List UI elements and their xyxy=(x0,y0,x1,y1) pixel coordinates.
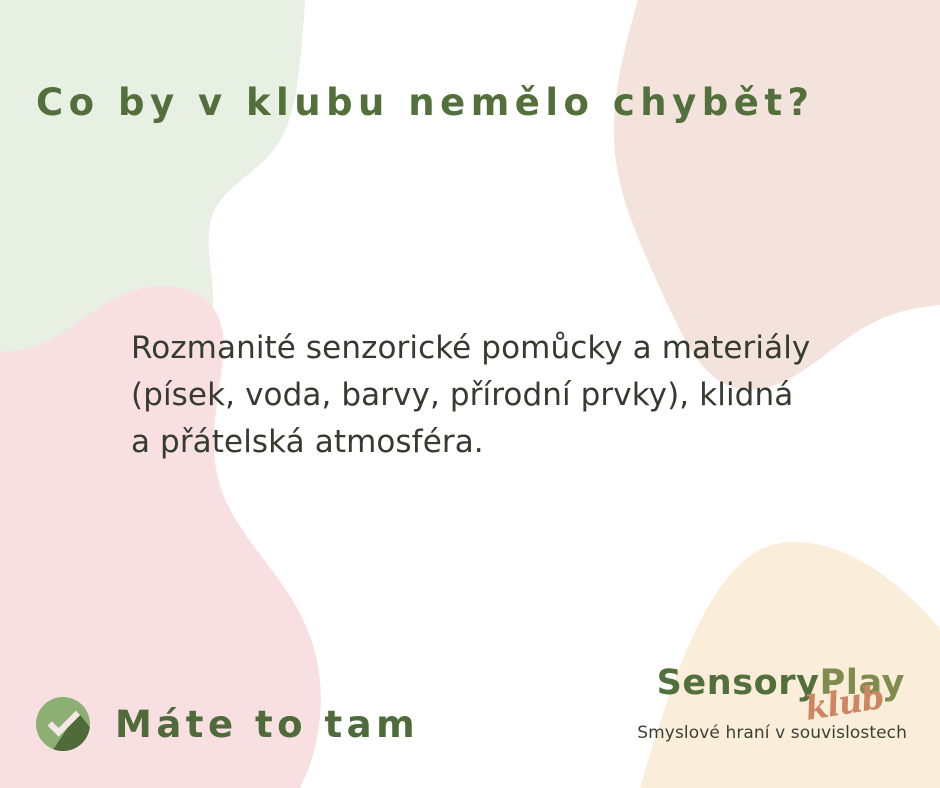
slide-canvas: Co by v klubu nemělo chybět? Rozmanité s… xyxy=(0,0,940,788)
check-circle-icon xyxy=(33,694,93,754)
logo-tagline: Smyslové hraní v souvislostech xyxy=(607,723,907,743)
logo-script-klub: klub xyxy=(802,680,885,725)
status-badge: Máte to tam xyxy=(33,694,419,754)
answer-description: Rozmanité senzorické pomůcky a materiály… xyxy=(131,325,811,466)
brand-logo: SensoryPlay klub Smyslové hraní v souvis… xyxy=(607,666,907,743)
logo-word-sensory: Sensory xyxy=(657,663,820,703)
logo-wordmark: SensoryPlay klub xyxy=(607,666,907,701)
status-badge-label: Máte to tam xyxy=(115,703,419,746)
page-title: Co by v klubu nemělo chybět? xyxy=(36,80,896,126)
